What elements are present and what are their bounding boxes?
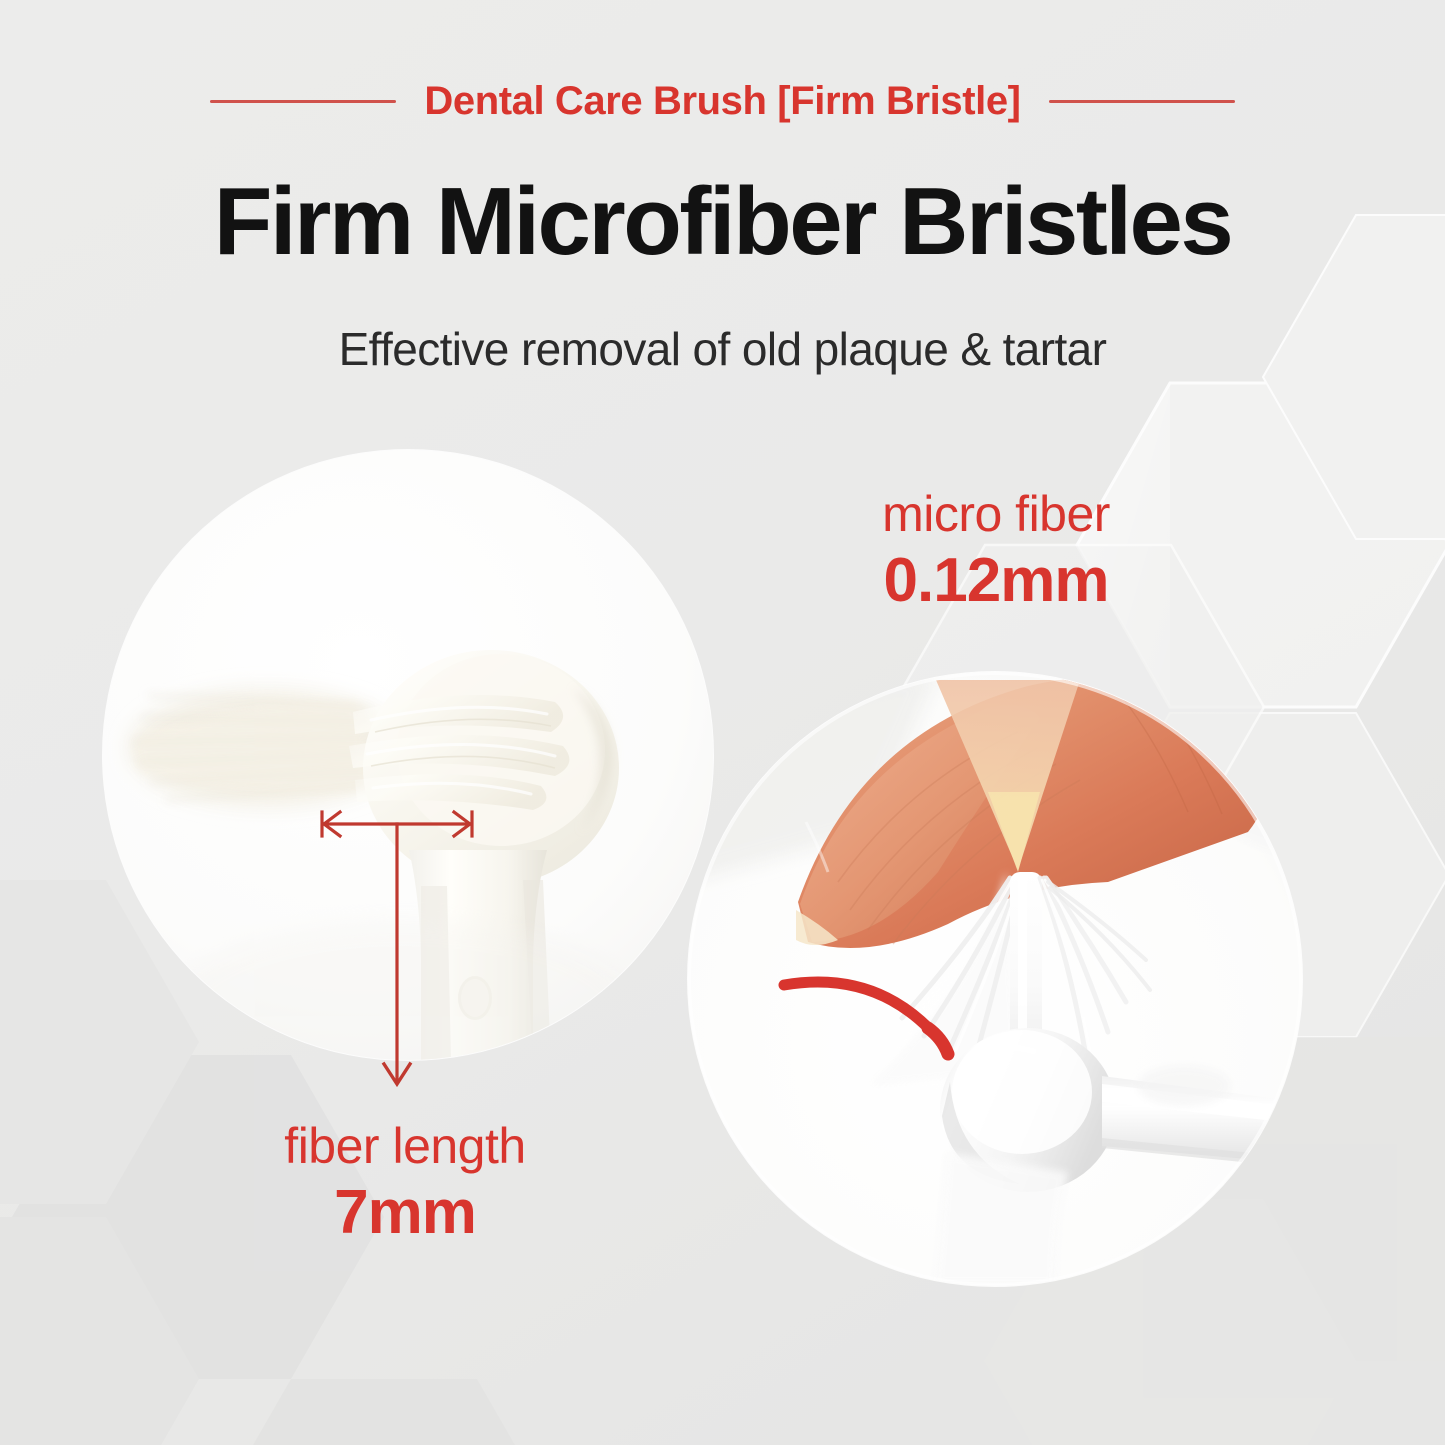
callout-fiber-length-value: 7mm [210, 1178, 600, 1247]
fingertip-bristle-illustration [688, 672, 1302, 1286]
page-subtitle: Effective removal of old plaque & tartar [0, 322, 1445, 376]
eyebrow-header: Dental Care Brush [Firm Bristle] [0, 72, 1445, 130]
callout-micro-fiber-value: 0.12mm [820, 546, 1172, 615]
callout-fiber-length: fiber length 7mm [210, 1118, 600, 1247]
eyebrow-rule-right [1049, 100, 1235, 103]
fingertip-bristle-photo [688, 672, 1302, 1286]
brush-head-photo [103, 450, 713, 1060]
callout-fiber-length-label: fiber length [210, 1118, 600, 1174]
product-infographic-page: Dental Care Brush [Firm Bristle] Firm Mi… [0, 0, 1445, 1445]
brush-head-illustration [103, 450, 713, 1060]
page-title: Firm Microfiber Bristles [0, 170, 1445, 274]
callout-micro-fiber: micro fiber 0.12mm [820, 486, 1172, 615]
eyebrow-label: Dental Care Brush [Firm Bristle] [424, 79, 1020, 124]
callout-micro-fiber-label: micro fiber [820, 486, 1172, 542]
eyebrow-rule-left [210, 100, 396, 103]
